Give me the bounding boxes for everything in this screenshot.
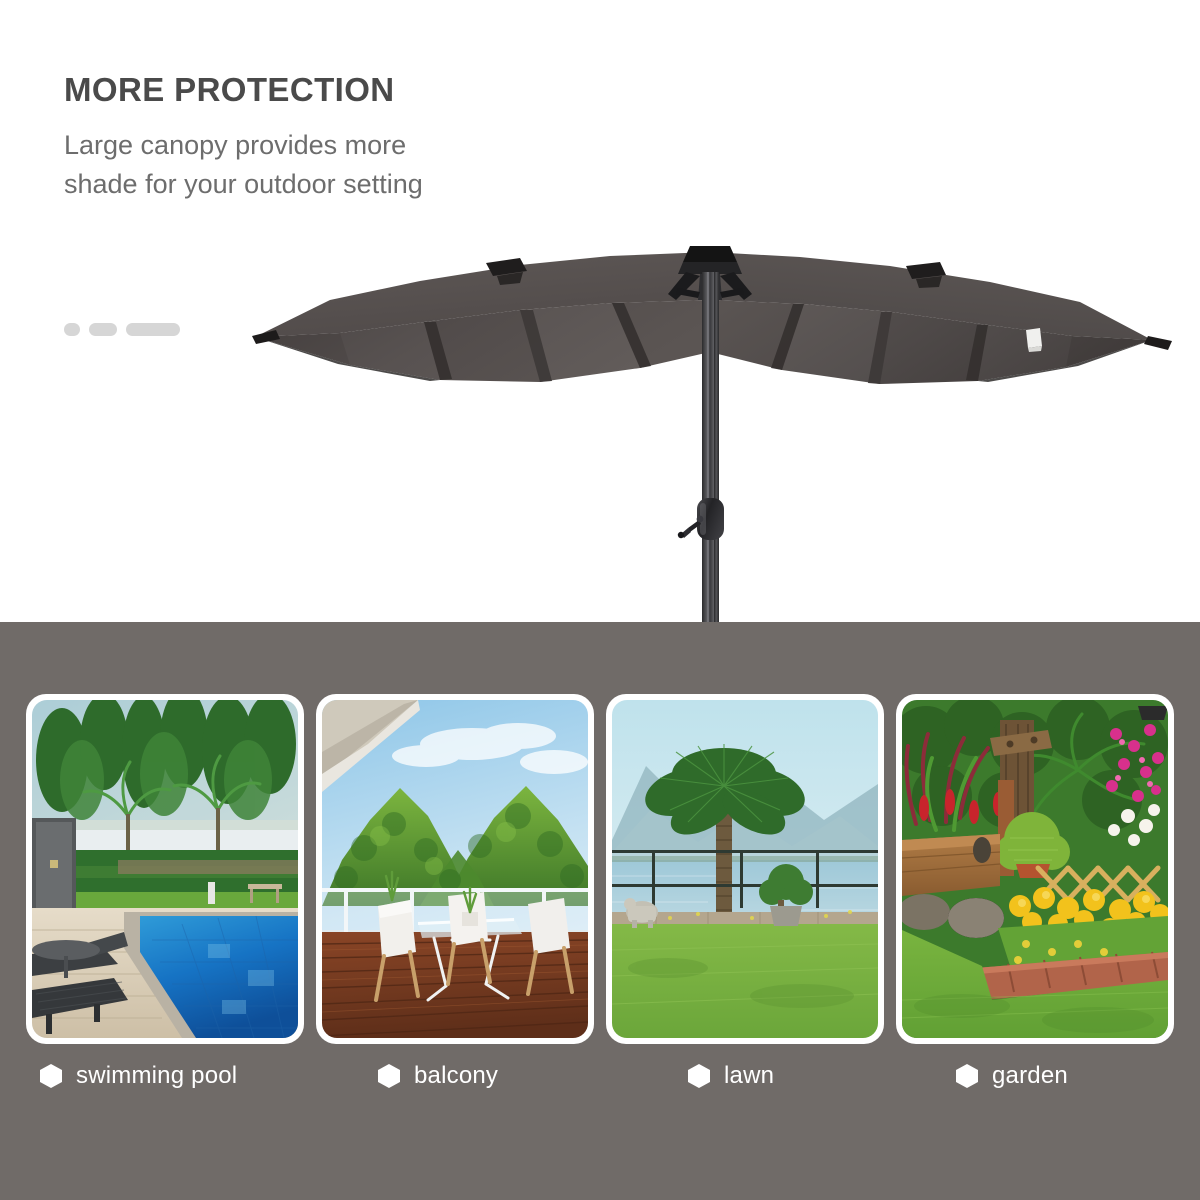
product-feature-page: MORE PROTECTION Large canopy provides mo… — [0, 0, 1200, 1200]
hero-section: MORE PROTECTION Large canopy provides mo… — [0, 0, 1200, 622]
scene-label-swimming-pool: swimming pool — [40, 1062, 237, 1090]
scene-label-text: lawn — [724, 1062, 774, 1090]
scene-card-lawn[interactable] — [606, 694, 884, 1044]
scene-photo-swimming-pool — [32, 700, 298, 1038]
hexagon-bullet-icon — [40, 1064, 62, 1088]
scene-label-text: swimming pool — [76, 1062, 237, 1090]
product-image-umbrella — [0, 0, 1200, 622]
hexagon-bullet-icon — [956, 1064, 978, 1088]
scene-card-garden[interactable] — [896, 694, 1174, 1044]
scene-label-balcony: balcony — [378, 1062, 498, 1090]
scene-thumbnail-row — [0, 694, 1200, 1044]
hexagon-bullet-icon — [688, 1064, 710, 1088]
scene-card-swimming-pool[interactable] — [26, 694, 304, 1044]
scene-label-garden: garden — [956, 1062, 1068, 1090]
scene-label-row: swimming pool balcony lawn garden — [0, 1062, 1200, 1122]
scene-label-lawn: lawn — [688, 1062, 774, 1090]
scene-label-text: balcony — [414, 1062, 498, 1090]
scene-photo-balcony — [322, 700, 588, 1038]
scene-card-balcony[interactable] — [316, 694, 594, 1044]
scene-label-text: garden — [992, 1062, 1068, 1090]
scene-photo-lawn — [612, 700, 878, 1038]
scene-photo-garden — [902, 700, 1168, 1038]
use-cases-panel: swimming pool balcony lawn garden — [0, 622, 1200, 1200]
hexagon-bullet-icon — [378, 1064, 400, 1088]
